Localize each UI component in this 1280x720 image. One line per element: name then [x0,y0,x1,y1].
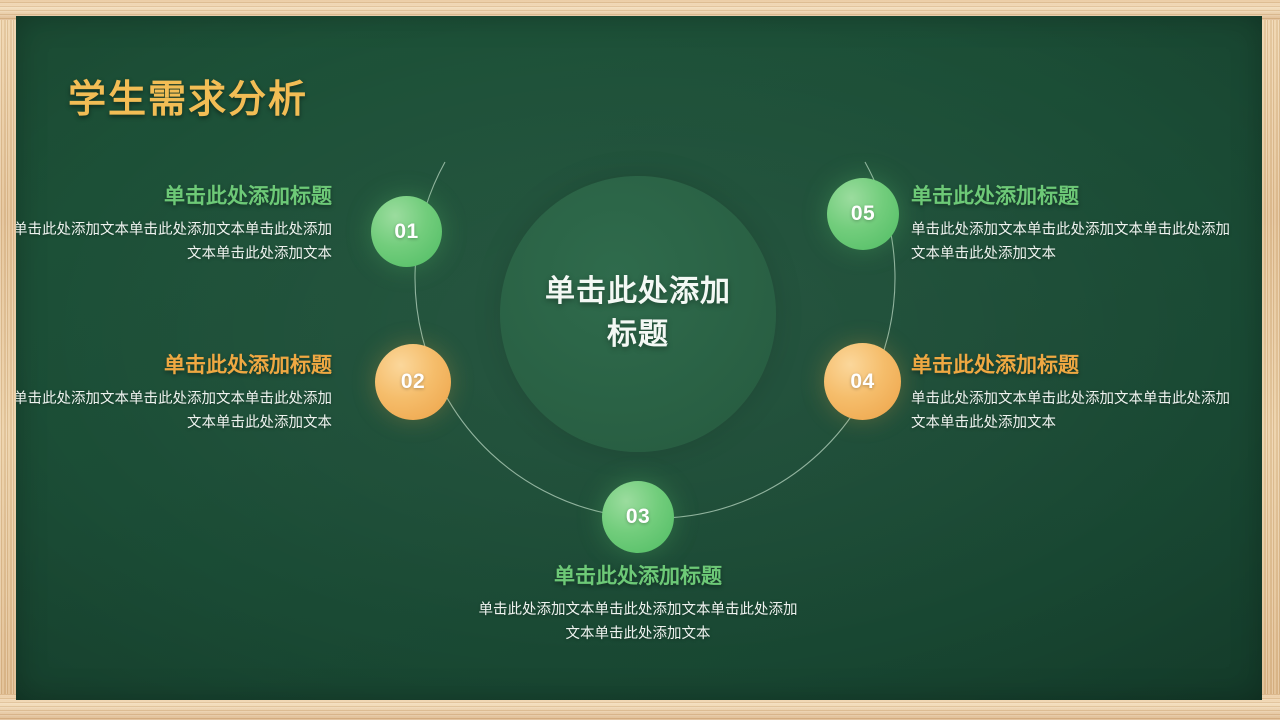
slide-canvas: 学生需求分析 单击此处添加标题 01 单击此处添加标题 单击此处添加文本单击此处… [0,0,1280,720]
node-heading-01: 单击此处添加标题 [16,184,332,210]
node-circle-02[interactable]: 02 [375,344,451,420]
node-body-05: 单击此处添加文本单击此处添加文本单击此处添加文本单击此处添加文本 [911,219,1231,266]
node-circle-01[interactable]: 01 [371,196,442,267]
node-number-01: 01 [394,220,418,244]
node-text-block-02: 单击此处添加标题 单击此处添加文本单击此处添加文本单击此处添加文本单击此处添加文… [16,353,332,435]
node-heading-04: 单击此处添加标题 [911,353,1231,379]
node-text-block-05: 单击此处添加标题 单击此处添加文本单击此处添加文本单击此处添加文本单击此处添加文… [911,184,1231,266]
node-heading-05: 单击此处添加标题 [911,184,1231,210]
node-number-03: 03 [626,505,650,529]
page-title: 学生需求分析 [68,68,308,123]
node-body-01: 单击此处添加文本单击此处添加文本单击此处添加文本单击此处添加文本 [16,219,332,266]
center-hub-label: 单击此处添加标题 [538,271,738,356]
node-number-05: 05 [851,202,875,226]
node-circle-03[interactable]: 03 [602,481,674,553]
node-body-02: 单击此处添加文本单击此处添加文本单击此处添加文本单击此处添加文本 [16,388,332,435]
node-body-04: 单击此处添加文本单击此处添加文本单击此处添加文本单击此处添加文本 [911,388,1231,435]
center-hub-circle[interactable]: 单击此处添加标题 [500,176,776,452]
chalkboard-surface: 学生需求分析 单击此处添加标题 01 单击此处添加标题 单击此处添加文本单击此处… [16,16,1262,700]
node-number-02: 02 [401,370,425,394]
node-text-block-01: 单击此处添加标题 单击此处添加文本单击此处添加文本单击此处添加文本单击此处添加文… [16,184,332,266]
node-heading-03: 单击此处添加标题 [478,564,798,590]
node-circle-04[interactable]: 04 [824,343,901,420]
node-circle-05[interactable]: 05 [827,178,899,250]
node-body-03: 单击此处添加文本单击此处添加文本单击此处添加文本单击此处添加文本 [478,599,798,646]
node-heading-02: 单击此处添加标题 [16,353,332,379]
node-text-block-03: 单击此处添加标题 单击此处添加文本单击此处添加文本单击此处添加文本单击此处添加文… [478,564,798,646]
node-number-04: 04 [850,370,874,394]
node-text-block-04: 单击此处添加标题 单击此处添加文本单击此处添加文本单击此处添加文本单击此处添加文… [911,353,1231,435]
